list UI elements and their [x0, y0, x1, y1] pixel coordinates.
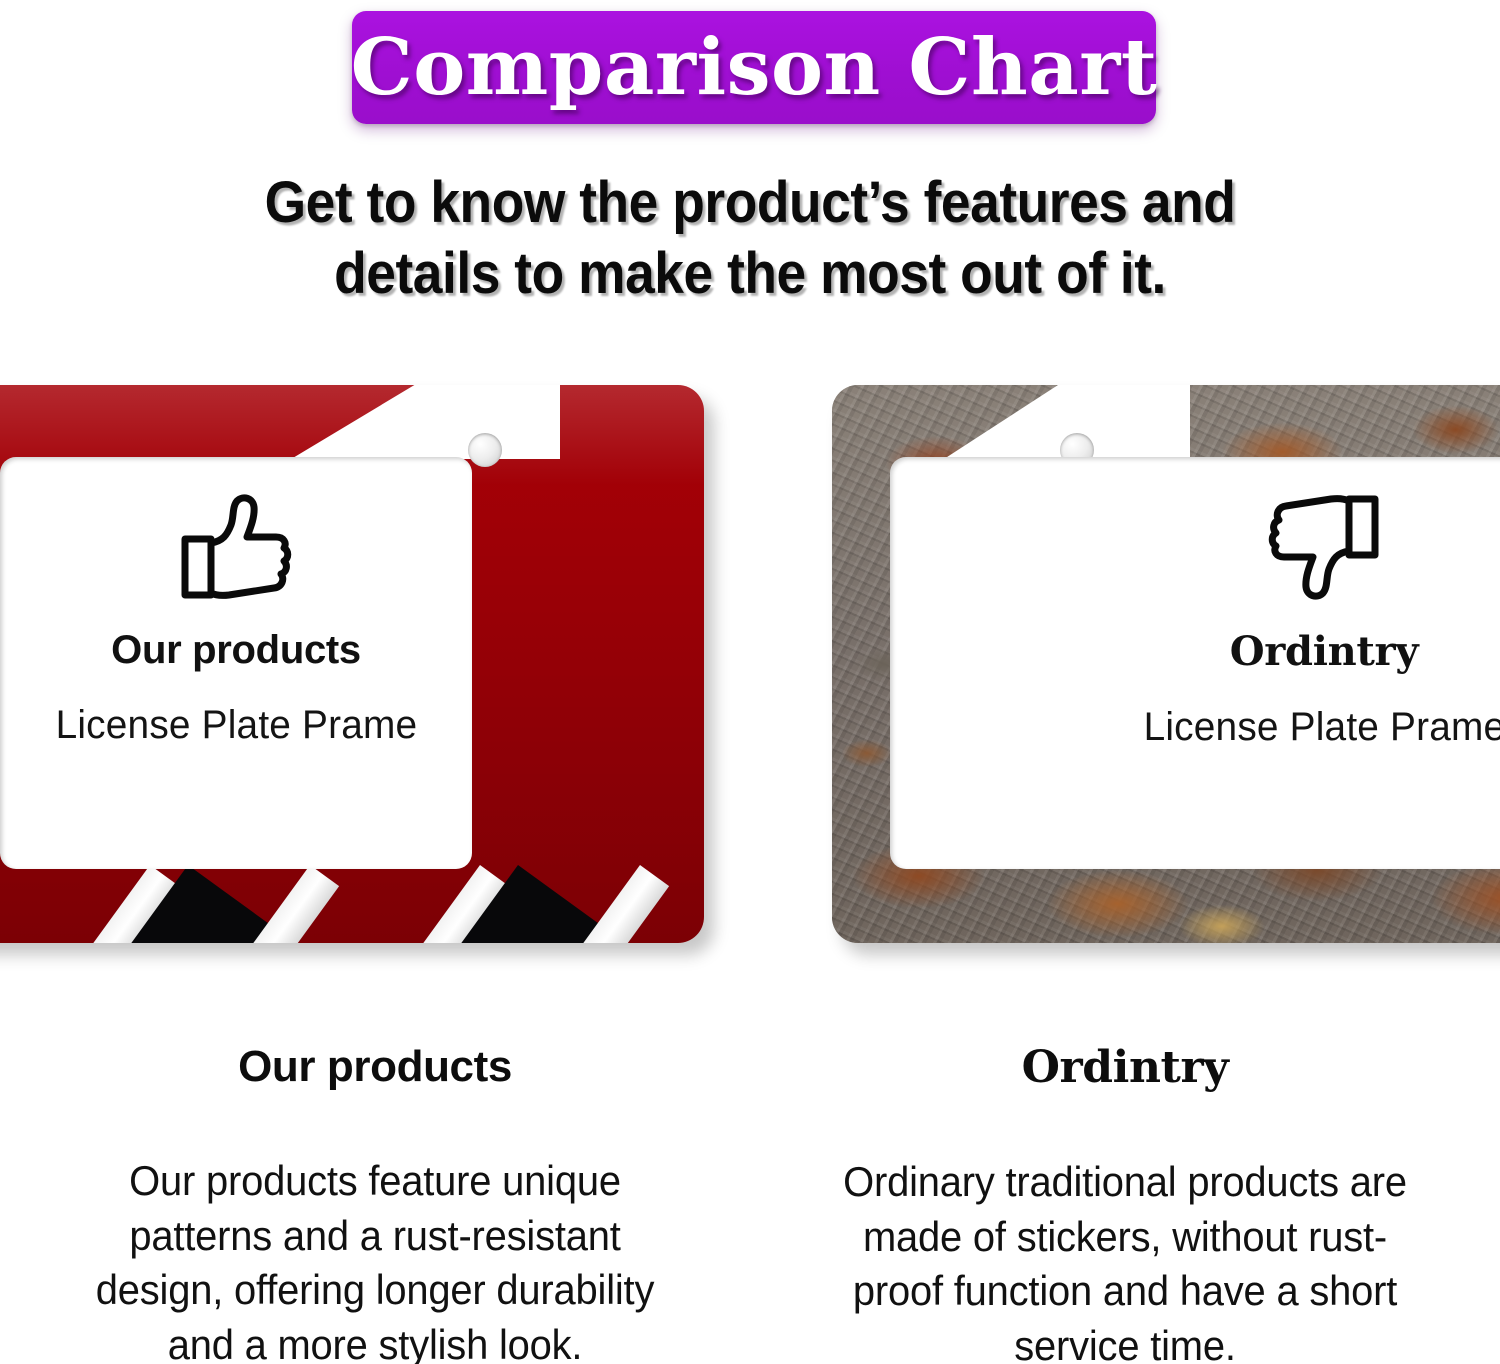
window-title-ours: Our products: [111, 628, 361, 673]
ordinary-product-column: Ordintry Ordinary traditional products a…: [750, 1020, 1500, 1364]
our-product-heading: Our products: [0, 1042, 750, 1092]
ordinary-product-frame: Ordintry License Plate Prame: [832, 385, 1500, 943]
thumbs-up-icon: [177, 491, 295, 608]
comparison-chart-banner: Comparison Chart: [352, 11, 1156, 124]
subtitle-line-2: details to make the most out of it.: [60, 239, 1440, 310]
our-product-frame: Our products License Plate Prame: [0, 385, 704, 943]
license-plate-window-ordinary: Ordintry License Plate Prame: [890, 457, 1500, 869]
page-subtitle: Get to know the product’s features and d…: [60, 168, 1440, 310]
ordinary-product-description: Ordinary traditional products are made o…: [821, 1155, 1429, 1364]
screw-hole-left: [468, 433, 502, 467]
our-product-description: Our products feature unique patterns and…: [71, 1154, 679, 1364]
window-title-ordinary: Ordintry: [1230, 628, 1419, 675]
page-title: Comparison Chart: [351, 29, 1158, 107]
thumbs-down-icon: [1265, 491, 1383, 608]
license-plate-window-ours: Our products License Plate Prame: [0, 457, 472, 869]
window-subtitle-ours: License Plate Prame: [55, 703, 417, 748]
window-subtitle-ordinary: License Plate Prame: [1143, 705, 1500, 750]
ordinary-product-heading: Ordintry: [750, 1042, 1500, 1093]
product-frames-row: Our products License Plate Prame: [0, 385, 1500, 945]
comparison-chart-page: Comparison Chart Get to know the product…: [0, 0, 1500, 1364]
our-product-column: Our products Our products feature unique…: [0, 1020, 750, 1364]
comparison-description-row: Our products Our products feature unique…: [0, 1020, 1500, 1364]
subtitle-line-1: Get to know the product’s features and: [60, 168, 1440, 239]
